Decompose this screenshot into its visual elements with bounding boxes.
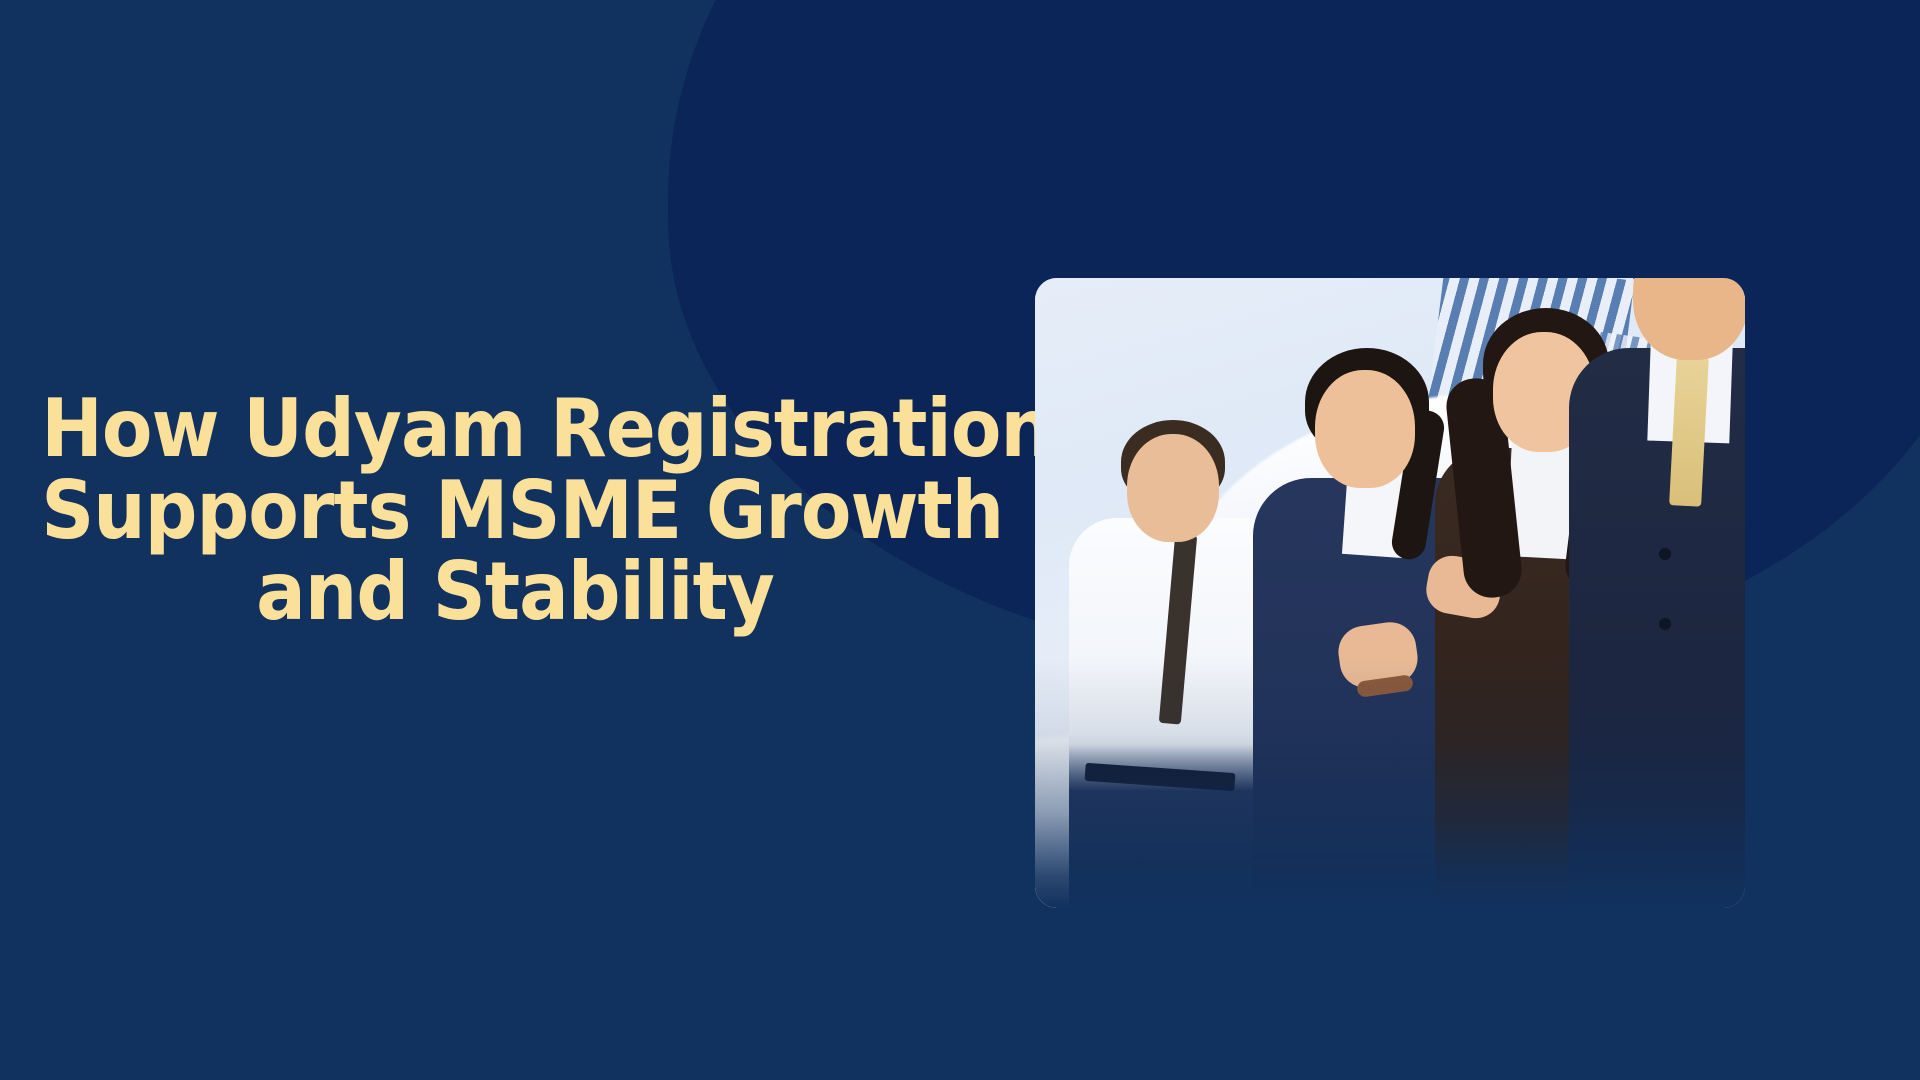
page-title: How Udyam Registration Supports MSME Gro…	[41, 388, 989, 633]
photo-bottom-fade	[1035, 278, 1745, 908]
slide-canvas: How Udyam Registration Supports MSME Gro…	[0, 0, 1920, 1080]
background-blob-fill	[1180, 0, 1920, 320]
hero-photo	[1035, 278, 1745, 908]
title-line-2: Supports MSME Growth	[41, 470, 989, 552]
title-line-1: How Udyam Registration	[41, 388, 989, 470]
title-line-3: and Stability	[41, 551, 989, 633]
